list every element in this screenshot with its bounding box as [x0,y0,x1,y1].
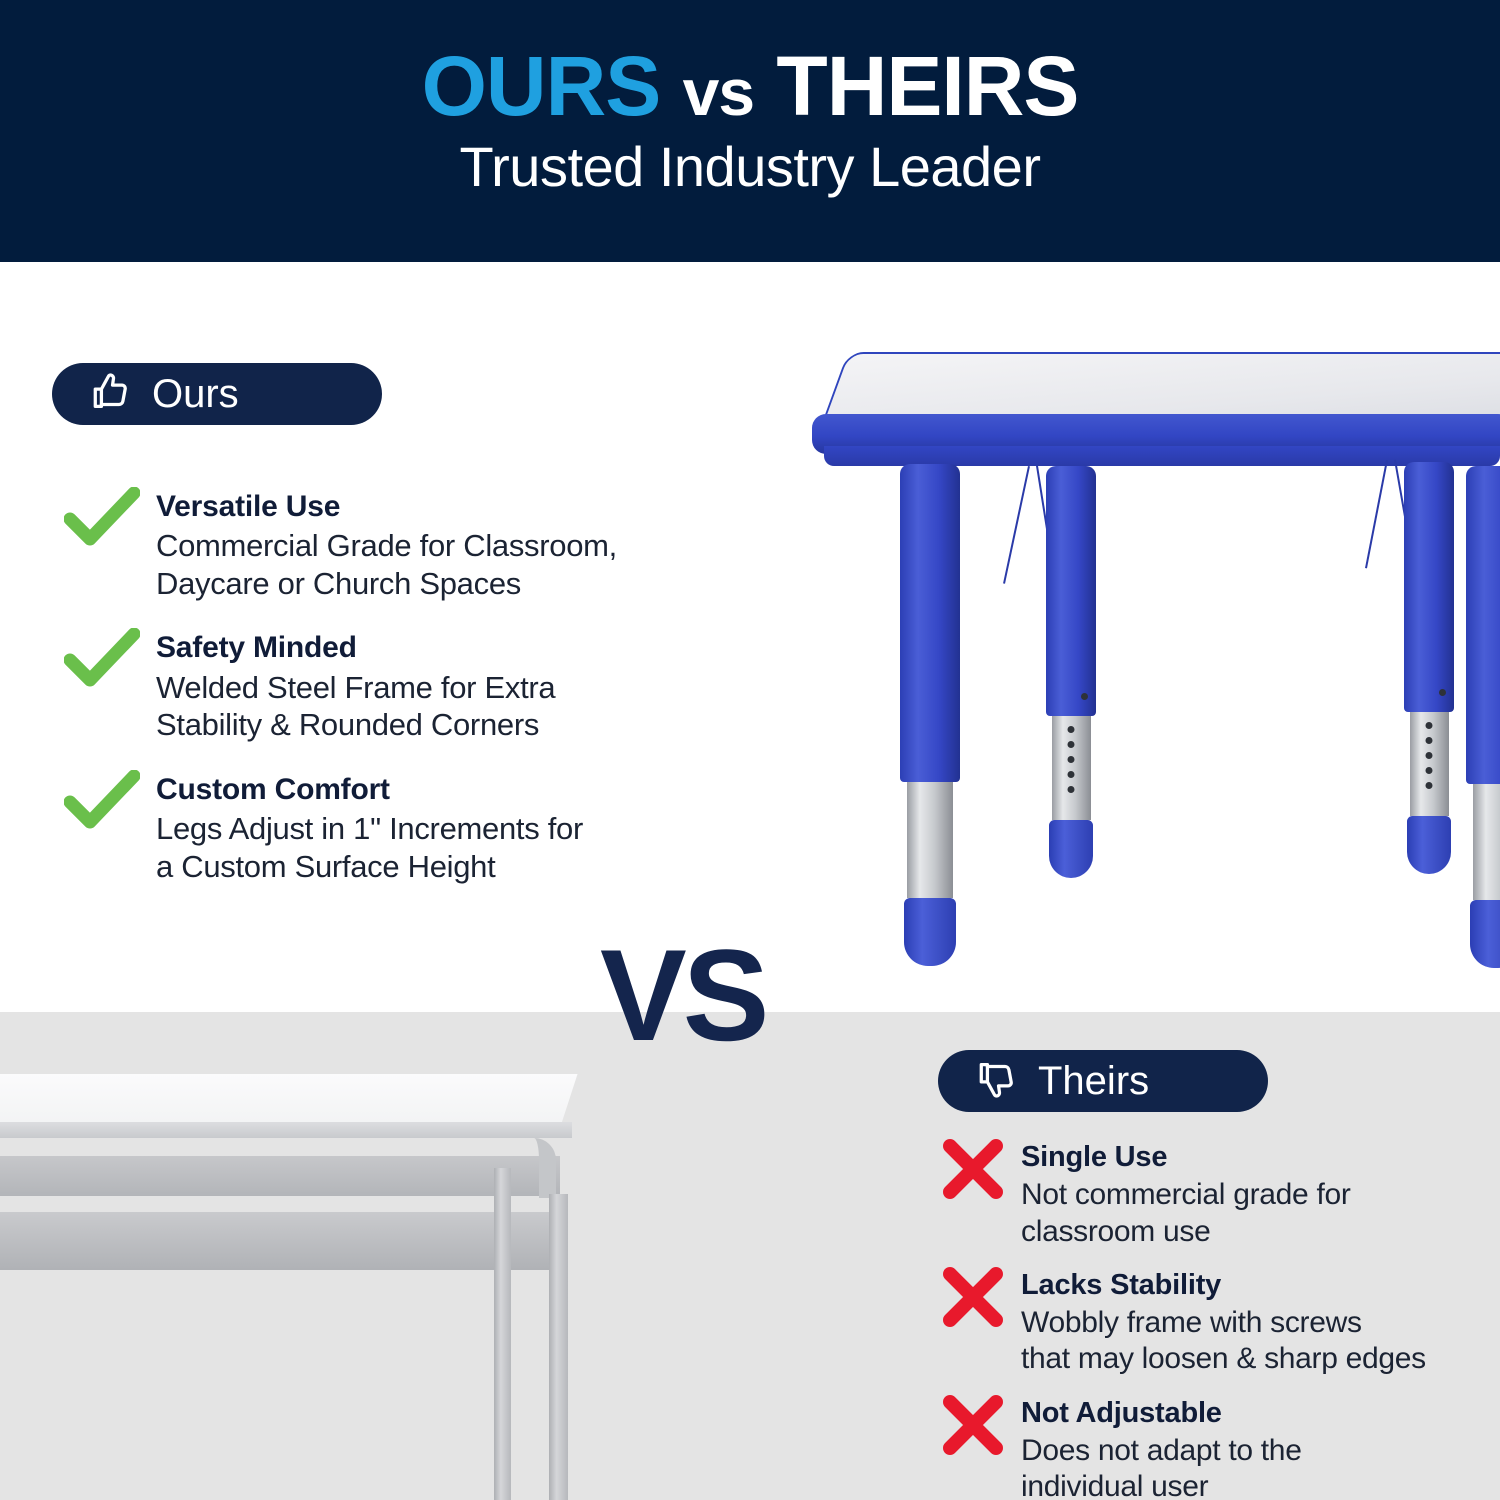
leg-adjust-holes [1068,726,1075,793]
list-item-title: Versatile Use [156,489,728,524]
leg-screw [1439,689,1446,696]
list-item-title: Lacks Stability [1021,1268,1500,1302]
gray-table-rail-upper [0,1156,560,1196]
list-item: Versatile Use Commercial Grade for Class… [48,487,728,602]
check-icon [48,770,156,832]
ours-badge: Ours [52,363,382,425]
list-item-title: Not Adjustable [1021,1396,1500,1430]
list-item-text: Versatile Use Commercial Grade for Class… [156,487,728,602]
leg-chrome-tube [1410,712,1449,816]
leg-hole [1068,786,1075,793]
table-leg [1046,466,1096,878]
table-leg [1404,462,1454,874]
leg-upper-tube [900,464,960,782]
theirs-badge-label: Theirs [1038,1061,1149,1101]
list-item-text: Single Use Not commercial grade for clas… [1021,1138,1500,1250]
list-item: Lacks Stability Wobbly frame with screws… [925,1266,1500,1378]
leg-screw [1081,693,1088,700]
list-item-text: Safety Minded Welded Steel Frame for Ext… [156,628,728,743]
list-item-text: Not Adjustable Does not adapt to the ind… [1021,1394,1500,1500]
leg-hole [1068,756,1075,763]
title-vs: vs [683,55,754,129]
list-item-desc: Legs Adjust in 1" Increments for a Custo… [156,810,728,885]
theirs-product-image [0,1060,610,1500]
header-banner: OURS vs THEIRS Trusted Industry Leader [0,0,1500,262]
leg-foot-cap [904,898,957,966]
list-item-title: Safety Minded [156,630,728,665]
leg-hole [1426,722,1433,729]
leg-hole [1426,752,1433,759]
gray-table-leg [549,1194,568,1500]
ours-badge-label: Ours [152,374,239,414]
list-item: Single Use Not commercial grade for clas… [925,1138,1500,1250]
list-item: Custom Comfort Legs Adjust in 1" Increme… [48,770,728,885]
leg-hole [1426,782,1433,789]
title-ours: OURS [422,39,661,133]
list-item-desc: Does not adapt to the individual user [1021,1433,1500,1500]
list-item-title: Custom Comfort [156,772,728,807]
thumbs-down-icon [974,1056,1020,1107]
theirs-feature-list: Single Use Not commercial grade for clas… [925,1138,1500,1500]
leg-hole [1426,737,1433,744]
leg-upper-tube [1046,466,1096,716]
check-icon [48,487,156,549]
comparison-infographic: OURS vs THEIRS Trusted Industry Leader [0,0,1500,1500]
list-item-desc: Commercial Grade for Classroom, Daycare … [156,527,728,602]
leg-hole [1068,771,1075,778]
list-item: Safety Minded Welded Steel Frame for Ext… [48,628,728,743]
list-item-text: Lacks Stability Wobbly frame with screws… [1021,1266,1500,1378]
thumbs-up-icon [88,369,134,420]
leg-foot-cap [1470,900,1500,968]
cross-icon [925,1266,1021,1328]
list-item-text: Custom Comfort Legs Adjust in 1" Increme… [156,770,728,885]
list-item-title: Single Use [1021,1140,1500,1174]
title-theirs: THEIRS [776,39,1078,133]
leg-foot-cap [1407,816,1451,874]
gray-table-leg [494,1168,511,1500]
leg-hole [1068,726,1075,733]
leg-brace [1003,466,1030,584]
gray-table-top-edge [0,1122,572,1138]
page-title: OURS vs THEIRS [0,44,1500,128]
cross-icon [925,1138,1021,1200]
leg-foot-cap [1049,820,1093,878]
list-item-desc: Welded Steel Frame for Extra Stability &… [156,669,728,744]
leg-upper-tube [1404,462,1454,712]
gray-table-top [0,1074,578,1128]
leg-chrome-tube [907,782,954,898]
leg-adjust-holes [1426,722,1433,789]
list-item-desc: Wobbly frame with screws that may loosen… [1021,1305,1500,1378]
leg-chrome-tube [1473,784,1500,900]
table-leg [900,464,960,966]
table-leg [1466,466,1500,968]
table-apron [824,446,1500,466]
leg-hole [1426,767,1433,774]
list-item-desc: Not commercial grade for classroom use [1021,1177,1500,1250]
leg-chrome-tube [1052,716,1091,820]
ours-product-image [790,340,1500,980]
leg-hole [1068,741,1075,748]
gray-table-rail-lower [0,1212,564,1270]
cross-icon [925,1394,1021,1456]
leg-upper-tube [1466,466,1500,784]
check-icon [48,628,156,690]
leg-brace [1365,460,1388,568]
gray-table-corner-bend [534,1138,556,1198]
list-item: Not Adjustable Does not adapt to the ind… [925,1394,1500,1500]
theirs-badge: Theirs [938,1050,1268,1112]
vs-divider-label: VS [600,930,765,1060]
ours-feature-list: Versatile Use Commercial Grade for Class… [48,487,728,911]
page-subtitle: Trusted Industry Leader [0,136,1500,198]
